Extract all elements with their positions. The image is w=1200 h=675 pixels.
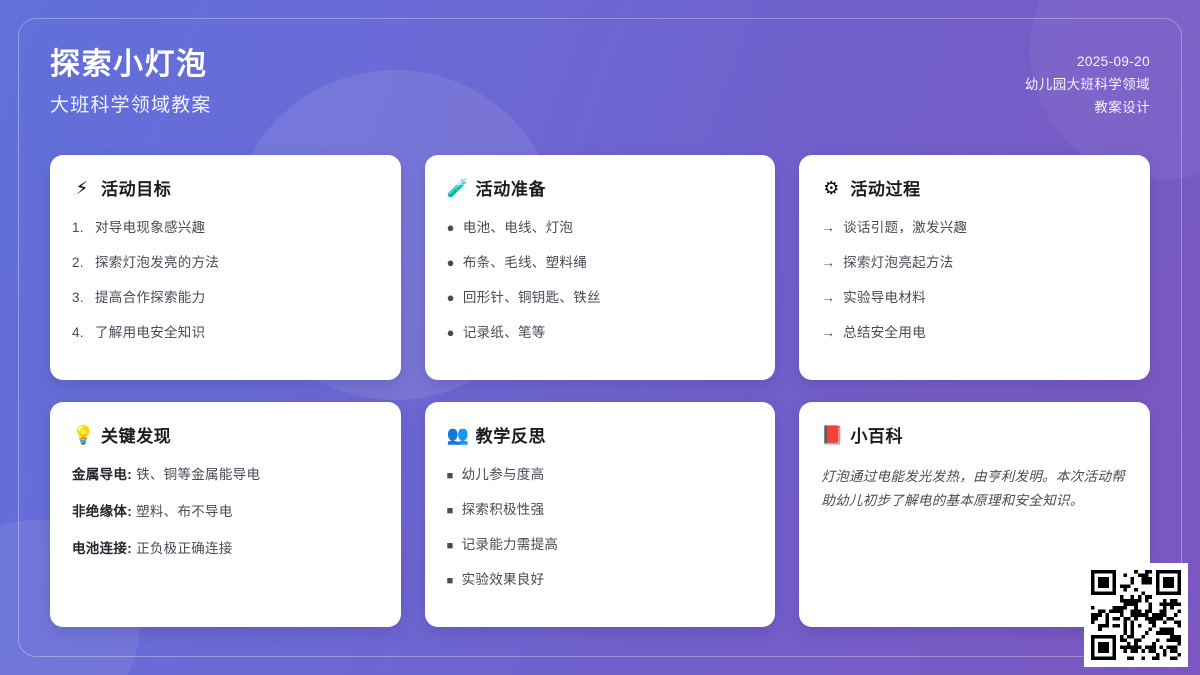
slide-header: 探索小灯泡 大班科学领域教案 2025-09-20 幼儿园大班科学领域 教案设计: [50, 46, 1150, 120]
list-marker-bullet: ●: [447, 291, 455, 304]
qr-code[interactable]: [1084, 563, 1188, 667]
card-teaching-reflection: 👥教学反思■幼儿参与度高■探索积极性强■记录能力需提高■实验效果良好: [425, 402, 776, 627]
list-item: 2.探索灯泡发亮的方法: [72, 253, 379, 274]
finding-value: 正负极正确连接: [136, 541, 233, 556]
page-title: 探索小灯泡: [50, 48, 212, 83]
list-marker-arrow: →: [821, 323, 835, 344]
list-item-text: 实验导电材料: [843, 288, 926, 309]
list-item-text: 总结安全用电: [843, 323, 926, 344]
card-body: 金属导电: 铁、铜等金属能导电非绝缘体: 塑料、布不导电电池连接: 正负极正确连…: [72, 465, 379, 560]
finding-value: 塑料、布不导电: [136, 504, 233, 519]
card-title: 小百科: [850, 422, 903, 447]
card-body: 1.对导电现象感兴趣2.探索灯泡发亮的方法3.提高合作探索能力4.了解用电安全知…: [72, 218, 379, 344]
flask-icon: 🧪: [447, 179, 467, 197]
list-item: 4.了解用电安全知识: [72, 323, 379, 344]
date-label: 2025-09-20: [1025, 50, 1150, 73]
list-item-text: 探索灯泡发亮的方法: [95, 253, 219, 274]
list-marker-bullet: ●: [447, 256, 455, 269]
list-item-text: 记录纸、笔等: [463, 323, 546, 344]
list-item: ●记录纸、笔等: [447, 323, 754, 344]
lightning-bolt-icon: ⚡: [72, 179, 92, 197]
list-marker-square: ■: [447, 541, 454, 552]
card-body: ■幼儿参与度高■探索积极性强■记录能力需提高■实验效果良好: [447, 465, 754, 591]
list-item: ●回形针、铜钥匙、铁丝: [447, 288, 754, 309]
finding-row: 非绝缘体: 塑料、布不导电: [72, 502, 379, 523]
list-item-text: 布条、毛线、塑料绳: [463, 253, 587, 274]
meta-line-1: 幼儿园大班科学领域: [1025, 73, 1150, 96]
card-activity-goals: ⚡活动目标1.对导电现象感兴趣2.探索灯泡发亮的方法3.提高合作探索能力4.了解…: [50, 155, 401, 380]
slide-root: 探索小灯泡 大班科学领域教案 2025-09-20 幼儿园大班科学领域 教案设计…: [0, 0, 1200, 675]
card-title: 活动准备: [476, 175, 546, 200]
card-header: 🧪活动准备: [447, 175, 754, 200]
page-subtitle: 大班科学领域教案: [50, 95, 212, 118]
list-item: →谈话引题，激发兴趣: [821, 218, 1128, 239]
card-title: 活动目标: [101, 175, 171, 200]
finding-key: 电池连接:: [72, 541, 132, 556]
lightbulb-icon: 💡: [72, 426, 92, 444]
list-marker-bullet: ●: [447, 221, 455, 234]
list-item: ■幼儿参与度高: [447, 465, 754, 486]
list-item: →探索灯泡亮起方法: [821, 253, 1128, 274]
list-marker-number: 4.: [72, 323, 87, 344]
finding-row: 电池连接: 正负极正确连接: [72, 539, 379, 560]
card-header: 📕小百科: [821, 422, 1128, 447]
list-item-text: 探索灯泡亮起方法: [843, 253, 953, 274]
list-marker-square: ■: [447, 471, 454, 482]
header-meta: 2025-09-20 幼儿园大班科学领域 教案设计: [1025, 46, 1150, 120]
meta-line-2: 教案设计: [1025, 96, 1150, 119]
finding-value: 铁、铜等金属能导电: [136, 467, 260, 482]
list-marker-bullet: ●: [447, 326, 455, 339]
qr-code-image: [1091, 570, 1181, 660]
list-marker-arrow: →: [821, 288, 835, 309]
list-marker-arrow: →: [821, 218, 835, 239]
card-header: 👥教学反思: [447, 422, 754, 447]
card-header: ⚡活动目标: [72, 175, 379, 200]
list-item: 1.对导电现象感兴趣: [72, 218, 379, 239]
card-body: 灯泡通过电能发光发热，由亨利发明。本次活动帮助幼儿初步了解电的基本原理和安全知识…: [821, 465, 1128, 512]
list-marker-number: 3.: [72, 288, 87, 309]
list-item-text: 实验效果良好: [462, 570, 545, 591]
list-item: ■记录能力需提高: [447, 535, 754, 556]
list-item-text: 电池、电线、灯泡: [463, 218, 573, 239]
card-header: 💡关键发现: [72, 422, 379, 447]
list-marker-number: 1.: [72, 218, 87, 239]
list-marker-square: ■: [447, 506, 454, 517]
card-title: 活动过程: [850, 175, 920, 200]
list-item-text: 记录能力需提高: [462, 535, 559, 556]
encyclopedia-text: 灯泡通过电能发光发热，由亨利发明。本次活动帮助幼儿初步了解电的基本原理和安全知识…: [821, 465, 1128, 512]
list-item-text: 回形针、铜钥匙、铁丝: [463, 288, 601, 309]
list-item: ■实验效果良好: [447, 570, 754, 591]
cards-grid: ⚡活动目标1.对导电现象感兴趣2.探索灯泡发亮的方法3.提高合作探索能力4.了解…: [50, 155, 1150, 627]
finding-row: 金属导电: 铁、铜等金属能导电: [72, 465, 379, 486]
list-item: ●布条、毛线、塑料绳: [447, 253, 754, 274]
list-item: ■探索积极性强: [447, 500, 754, 521]
list-item: ●电池、电线、灯泡: [447, 218, 754, 239]
card-body: →谈话引题，激发兴趣→探索灯泡亮起方法→实验导电材料→总结安全用电: [821, 218, 1128, 344]
card-header: ⚙活动过程: [821, 175, 1128, 200]
people-group-icon: 👥: [447, 426, 467, 444]
list-item: →总结安全用电: [821, 323, 1128, 344]
finding-key: 非绝缘体:: [72, 504, 132, 519]
list-item-text: 谈话引题，激发兴趣: [843, 218, 967, 239]
list-marker-square: ■: [447, 576, 454, 587]
list-item-text: 探索积极性强: [462, 500, 545, 521]
list-marker-number: 2.: [72, 253, 87, 274]
title-block: 探索小灯泡 大班科学领域教案: [50, 46, 212, 117]
list-item-text: 幼儿参与度高: [462, 465, 545, 486]
list-item-text: 对导电现象感兴趣: [95, 218, 205, 239]
card-title: 关键发现: [101, 422, 171, 447]
finding-key: 金属导电:: [72, 467, 132, 482]
card-title: 教学反思: [476, 422, 546, 447]
card-body: ●电池、电线、灯泡●布条、毛线、塑料绳●回形针、铜钥匙、铁丝●记录纸、笔等: [447, 218, 754, 344]
card-key-findings: 💡关键发现金属导电: 铁、铜等金属能导电非绝缘体: 塑料、布不导电电池连接: 正…: [50, 402, 401, 627]
list-marker-arrow: →: [821, 253, 835, 274]
list-item-text: 提高合作探索能力: [95, 288, 205, 309]
card-activity-process: ⚙活动过程→谈话引题，激发兴趣→探索灯泡亮起方法→实验导电材料→总结安全用电: [799, 155, 1150, 380]
book-icon: 📕: [821, 426, 841, 444]
list-item: 3.提高合作探索能力: [72, 288, 379, 309]
gears-icon: ⚙: [821, 179, 841, 197]
list-item: →实验导电材料: [821, 288, 1128, 309]
list-item-text: 了解用电安全知识: [95, 323, 205, 344]
card-activity-preparation: 🧪活动准备●电池、电线、灯泡●布条、毛线、塑料绳●回形针、铜钥匙、铁丝●记录纸、…: [425, 155, 776, 380]
